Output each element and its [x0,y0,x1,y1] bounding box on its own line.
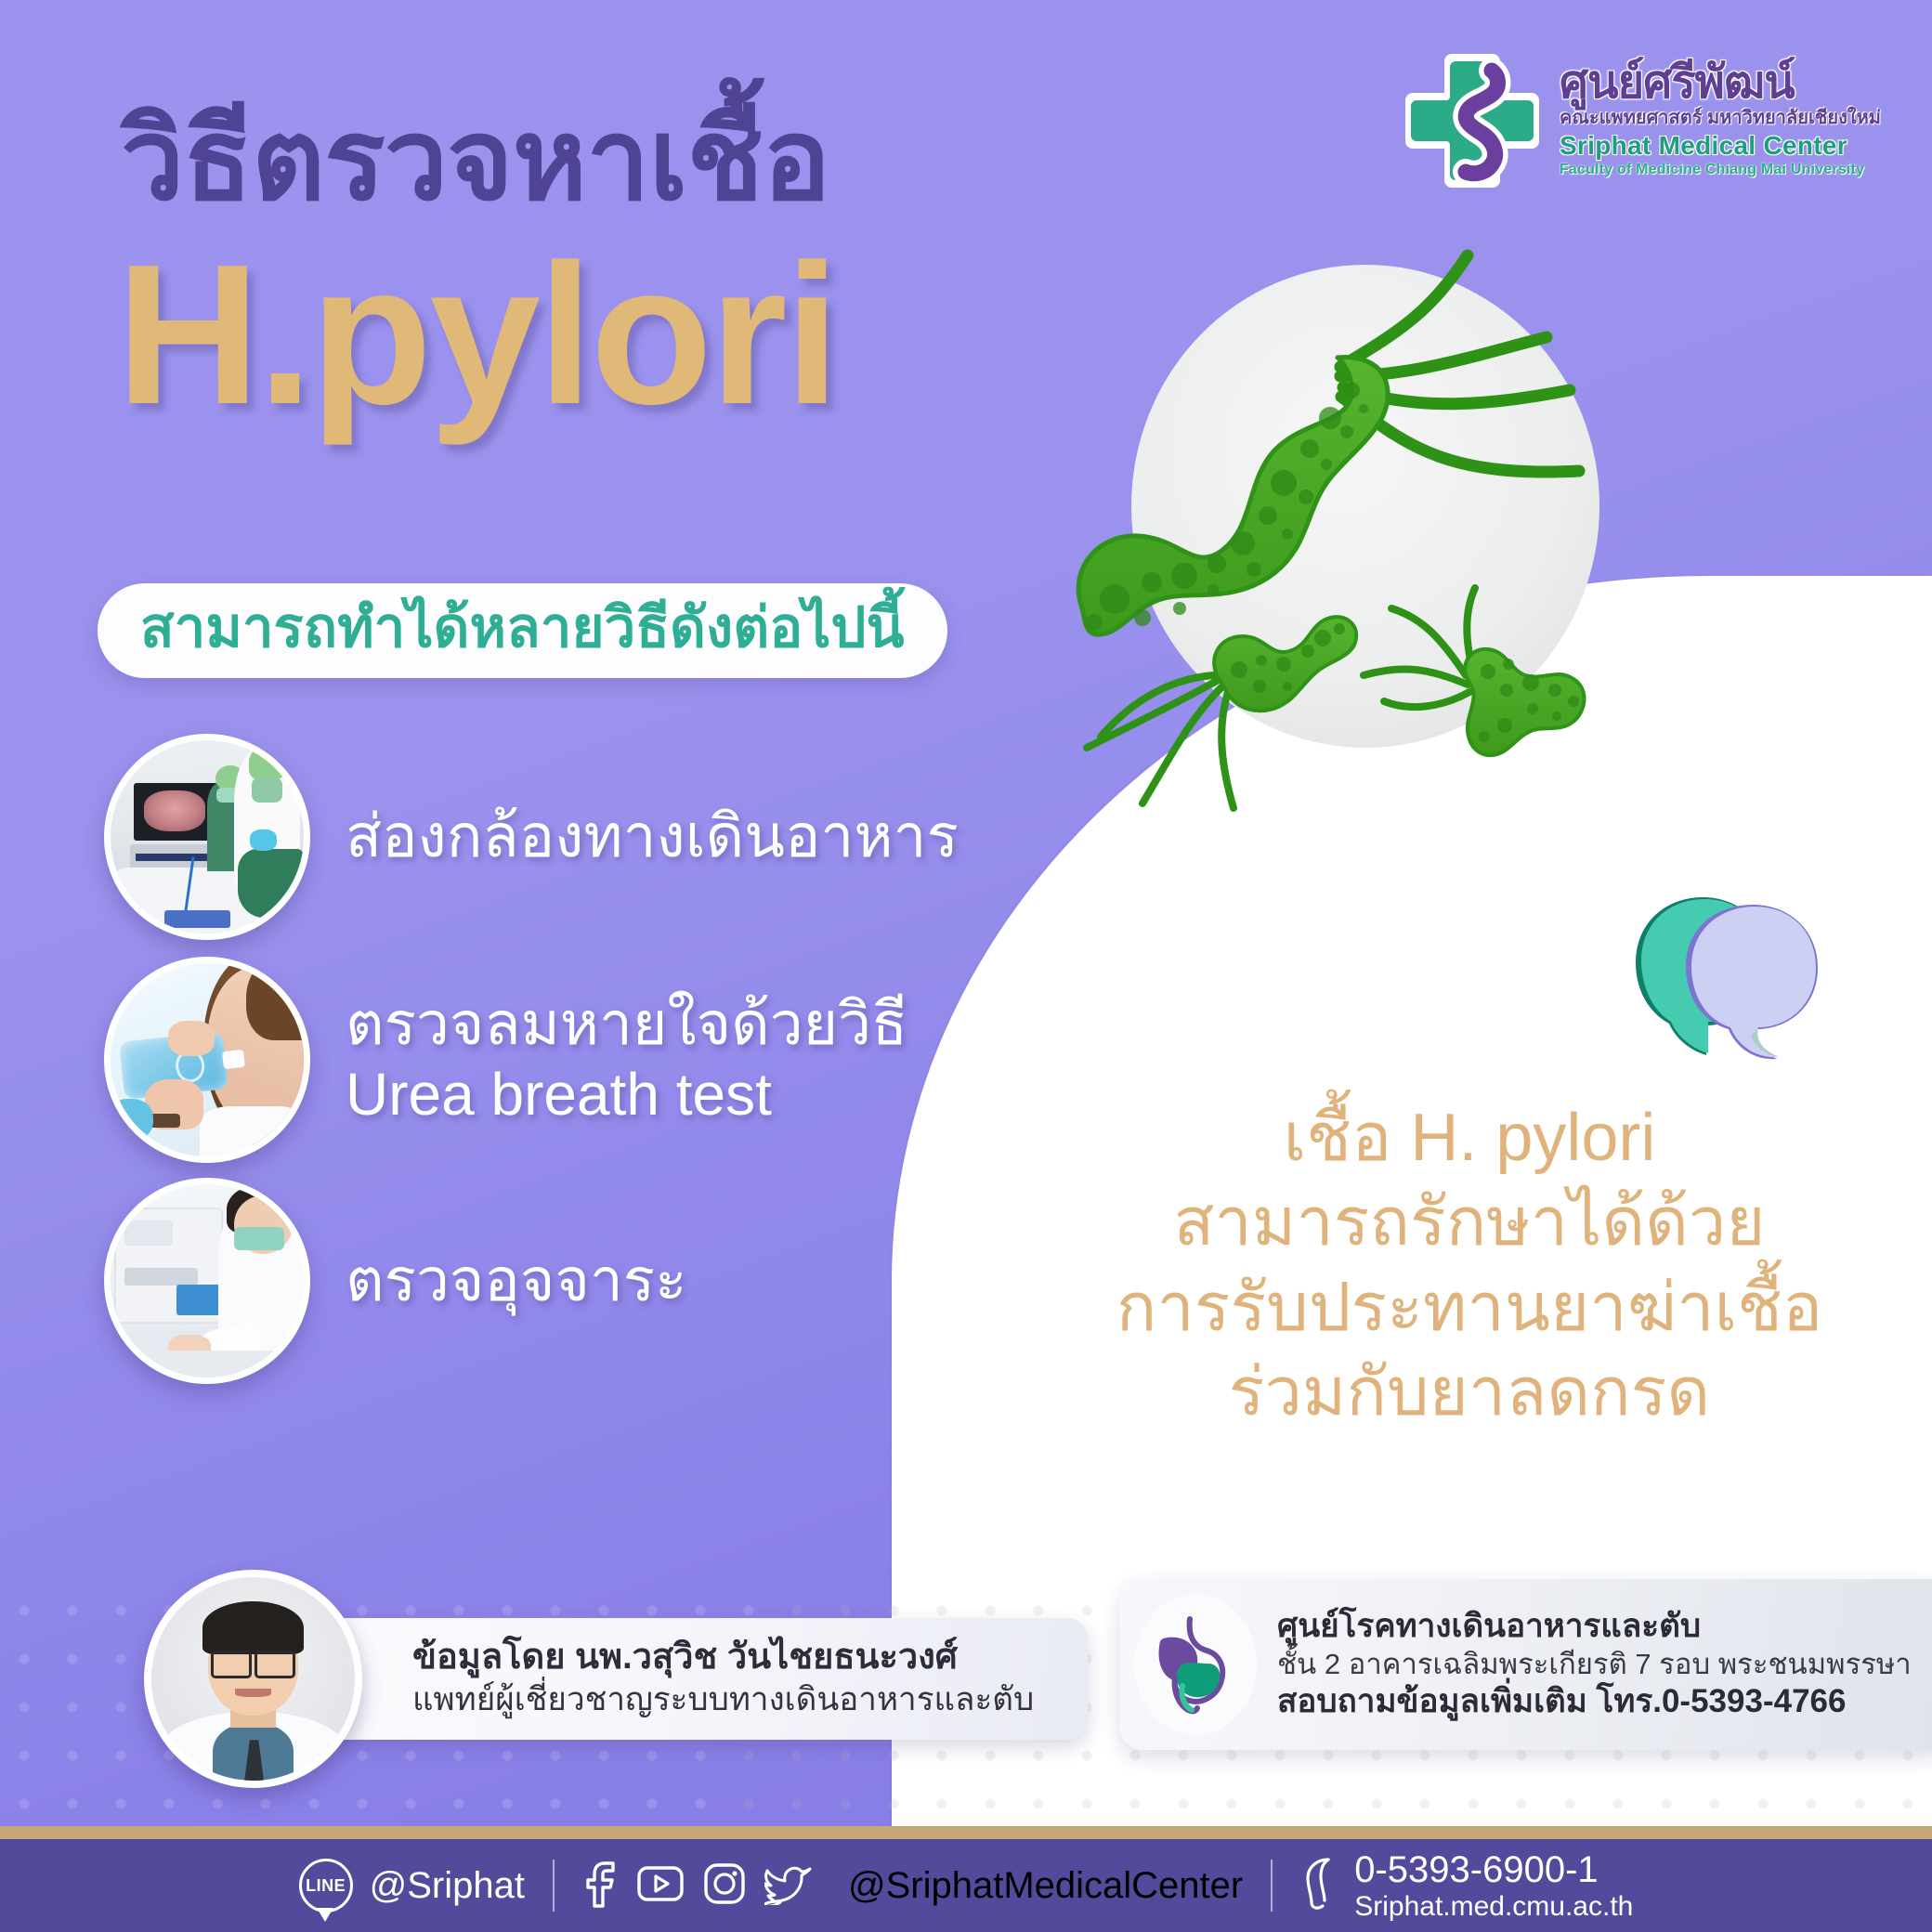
line-contact[interactable]: LINE @Sriphat [299,1859,525,1912]
methods-list: ส่องกล้องทางเดินอาหาร ตรวจลมหายใจด้วยวิธ… [104,734,1089,1384]
urea-breath-test-photo [104,957,310,1163]
line-handle: @Sriphat [370,1865,525,1907]
logo-thai-name: ศูนย์ศรีพัฒน์ [1560,60,1795,106]
treatment-message: เชื้อ H. pylori สามารถรักษาได้ด้วย การรั… [1079,1096,1860,1436]
doctor-info-box: ข้อมูลโดย นพ.วสุวิช วันไชยธนะวงศ์ แพทย์ผ… [320,1618,1088,1741]
center-contact-lines: ศูนย์โรคทางเดินอาหารและตับ ชั้น 2 อาคารเ… [1277,1607,1912,1721]
website-url: Sriphat.med.cmu.ac.th [1354,1891,1633,1923]
doctor-credit: ข้อมูลโดย นพ.วสุวิช วันไชยธนะวงศ์ แพทย์ผ… [144,1570,1088,1788]
instagram-icon[interactable] [703,1862,746,1910]
method-label-sub: Urea breath test [346,1060,907,1130]
page-title-en: H.pylori [116,234,837,434]
line-icon[interactable]: LINE [299,1859,353,1912]
method-item: ส่องกล้องทางเดินอาหาร [104,734,1089,940]
social-icons: @SriphatMedicalCenter [582,1860,1243,1912]
method-item: ตรวจอุจจาระ [104,1178,1089,1384]
gold-divider-strip [0,1826,1932,1839]
method-label: ส่องกล้องทางเดินอาหาร [346,802,959,872]
footer-divider-1 [553,1860,555,1912]
footer-divider-2 [1271,1860,1273,1912]
brand-logo-text: ศูนย์ศรีพัฒน์ คณะแพทยศาสตร์ มหาวิทยาลัยเ… [1560,60,1881,177]
treatment-line-4: ร่วมกับยาลดกรด [1079,1351,1860,1435]
doctor-name: ข้อมูลโดย นพ.วสุวิช วันไชยธนะวงศ์ [412,1637,1034,1679]
endoscopy-procedure-photo [104,734,310,940]
method-label-main: ส่องกล้องทางเดินอาหาร [346,803,959,869]
h-pylori-bacteria-illustration [1031,200,1681,813]
speech-bubbles-icon [1621,890,1834,1076]
treatment-line-2: สามารถรักษาได้ด้วย [1079,1181,1860,1265]
method-label: ตรวจลมหายใจด้วยวิธี Urea breath test [346,989,907,1129]
liver-stomach-icon [1134,1594,1257,1735]
logo-en-name: Sriphat Medical Center [1560,133,1847,159]
twitter-icon[interactable] [764,1862,813,1910]
footer-bar: LINE @Sriphat @SriphatMedicalCenter [0,1839,1932,1932]
stool-lab-test-photo [104,1178,310,1384]
center-name: ศูนย์โรคทางเดินอาหารและตับ [1277,1607,1912,1647]
medical-cross-s-logo-icon [1402,48,1543,189]
center-contact-box: ศูนย์โรคทางเดินอาหารและตับ ชั้น 2 อาคารเ… [1119,1579,1932,1750]
brand-logo: ศูนย์ศรีพัฒน์ คณะแพทยศาสตร์ มหาวิทยาลัยเ… [1402,48,1881,189]
logo-en-sub: Faculty of Medicine Chiang Mai Universit… [1560,163,1864,177]
logo-thai-sub: คณะแพทยศาสตร์ มหาวิทยาลัยเชียงใหม่ [1560,109,1881,127]
facebook-icon[interactable] [582,1860,618,1912]
method-item: ตรวจลมหายใจด้วยวิธี Urea breath test [104,957,1089,1163]
page-title-thai: วิธีตรวจหาเชื้อ [121,100,829,220]
treatment-line-3: การรับประทานยาฆ่าเชื้อ [1079,1266,1860,1351]
doctor-role: แพทย์ผู้เชี่ยวชาญระบบทางเดินอาหารและตับ [412,1680,1034,1719]
social-handle: @SriphatMedicalCenter [848,1865,1243,1907]
youtube-icon[interactable] [636,1863,685,1909]
center-address: ชั้น 2 อาคารเฉลิมพระเกียรติ 7 รอบ พระชนม… [1277,1647,1912,1682]
doctor-portrait [144,1570,362,1788]
method-label: ตรวจอุจจาระ [346,1246,687,1316]
infographic-poster: ศูนย์ศรีพัฒน์ คณะแพทยศาสตร์ มหาวิทยาลัยเ… [0,0,1932,1932]
treatment-line-1: เชื้อ H. pylori [1079,1096,1860,1181]
method-label-main: ตรวจลมหายใจด้วยวิธี [346,990,907,1057]
subtitle-pill: สามารถทำได้หลายวิธีดังต่อไปนี้ [98,583,947,678]
method-label-main: ตรวจอุจจาระ [346,1247,687,1313]
phone-icon [1300,1854,1339,1916]
subtitle-text: สามารถทำได้หลายวิธีดังต่อไปนี้ [140,596,905,659]
phone-number: 0-5393-6900-1 [1354,1849,1633,1891]
center-phone: สอบถามข้อมูลเพิ่มเติม โทร.0-5393-4766 [1277,1682,1912,1722]
phone-contact[interactable]: 0-5393-6900-1 Sriphat.med.cmu.ac.th [1300,1849,1633,1922]
